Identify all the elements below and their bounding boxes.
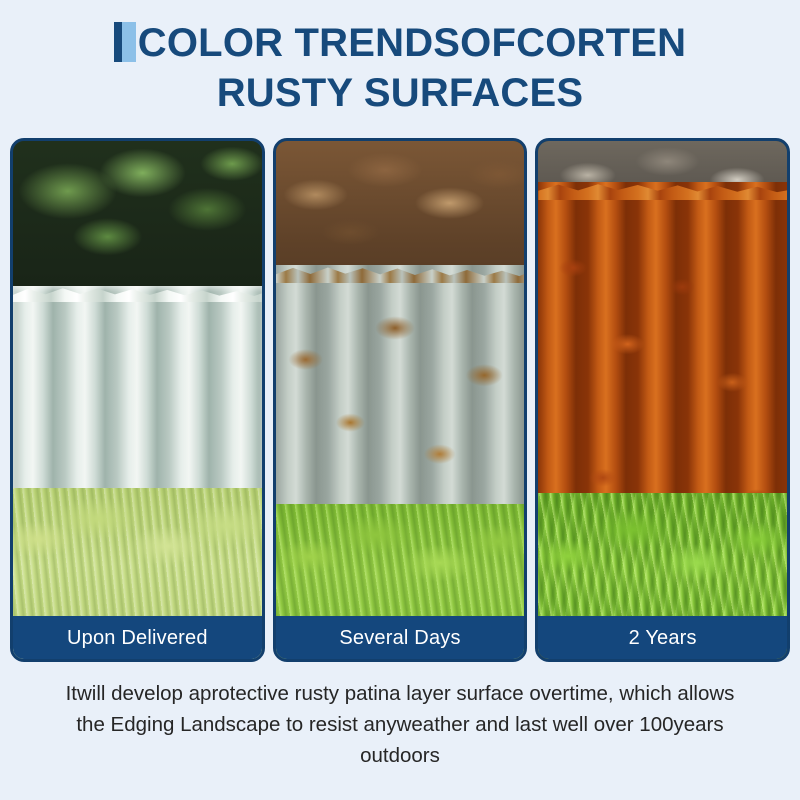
panel-several-days: Several Days bbox=[273, 138, 528, 662]
panel-upon-delivered: Upon Delivered bbox=[10, 138, 265, 662]
panel-two-years: 2 Years bbox=[535, 138, 790, 662]
page-title-line-1: COLOR TRENDSOFCORTEN bbox=[114, 18, 686, 68]
photo-several-days bbox=[276, 141, 525, 659]
caption-upon-delivered: Upon Delivered bbox=[12, 616, 263, 660]
caption-two-years: 2 Years bbox=[537, 616, 788, 660]
accent-bar-light bbox=[120, 22, 136, 62]
footer-description: Itwill develop aprotective rusty patina … bbox=[52, 678, 748, 771]
page-title-line-2: RUSTY SURFACES bbox=[0, 68, 800, 118]
photo-upon-delivered bbox=[13, 141, 262, 659]
header: COLOR TRENDSOFCORTEN RUSTY SURFACES bbox=[0, 0, 800, 118]
page-title-text-1: COLOR TRENDSOFCORTEN bbox=[138, 21, 686, 65]
accent-bar-icon bbox=[114, 22, 136, 62]
photo-two-years bbox=[538, 141, 787, 659]
accent-bar-dark bbox=[114, 22, 122, 62]
caption-several-days: Several Days bbox=[275, 616, 526, 660]
comparison-panel-row: Upon Delivered Several Days 2 Years bbox=[10, 138, 790, 662]
